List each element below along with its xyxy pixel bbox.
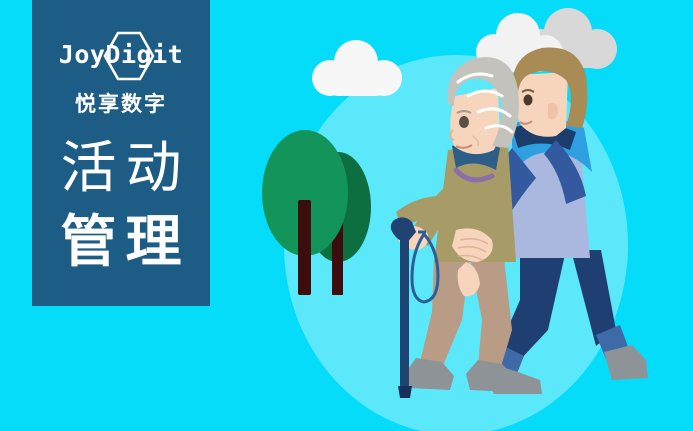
page-title-line2: 管理 <box>32 212 210 274</box>
brand-subtitle: 悦享数字 <box>32 88 210 118</box>
elderly-face <box>450 88 500 154</box>
cane-shaft <box>400 236 409 388</box>
brand-logo: JoyDigit <box>32 30 210 82</box>
page-title-line1: 活动 <box>32 138 210 200</box>
title-panel: JoyDigit 悦享数字 活动 管理 <box>32 0 210 306</box>
poster-canvas: JoyDigit 悦享数字 活动 管理 <box>0 0 693 431</box>
cane-tip <box>398 386 412 398</box>
young-man-eye <box>524 95 533 106</box>
logo-wordmark: JoyDigit <box>32 40 210 69</box>
elderly-eye <box>459 116 469 128</box>
young-man-face <box>515 72 568 137</box>
